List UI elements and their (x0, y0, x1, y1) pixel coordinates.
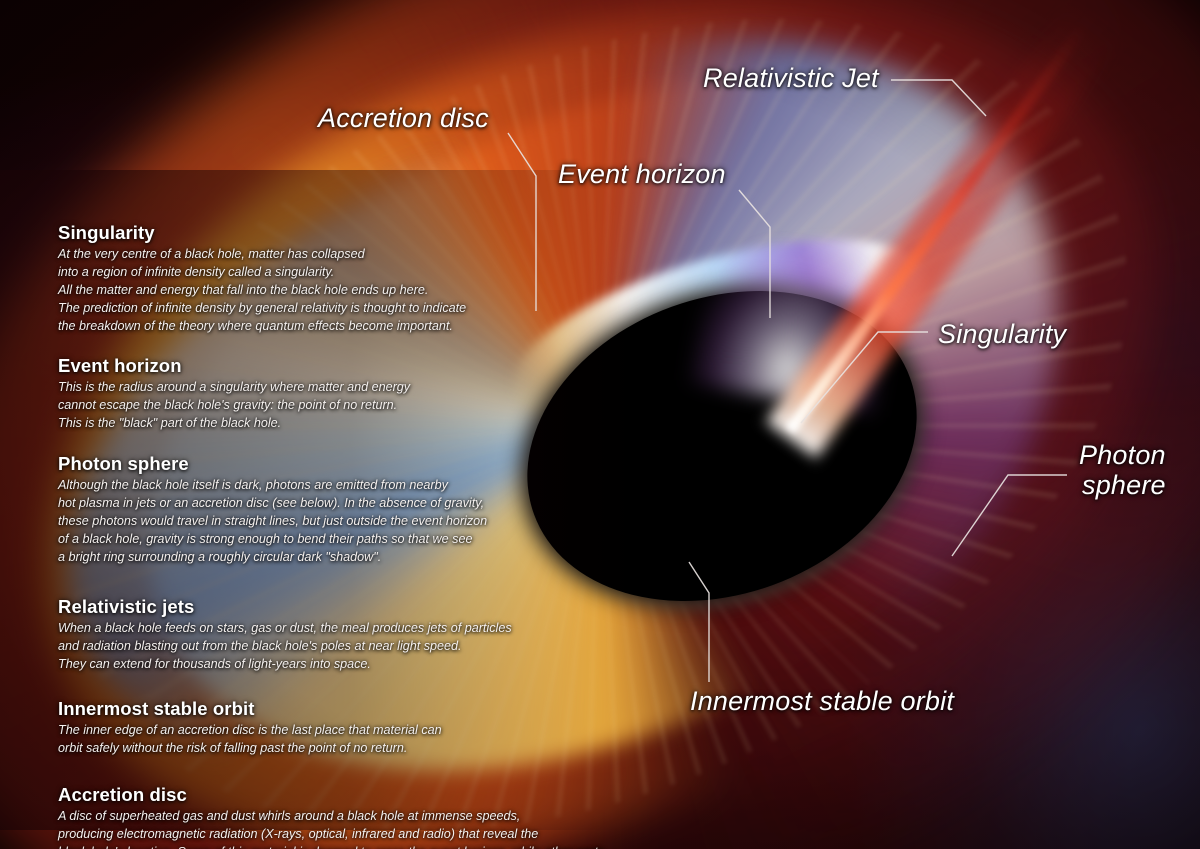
callout-relativistic-jet: Relativistic Jet (703, 63, 879, 93)
leader-line-singularity (801, 332, 928, 423)
description-column: Singularity At the very centre of a blac… (58, 222, 658, 849)
section-body-photon-sphere: Although the black hole itself is dark, … (58, 477, 658, 566)
section-event-horizon: Event horizon This is the radius around … (58, 355, 658, 433)
section-heading-innermost-stable-orbit: Innermost stable orbit (58, 698, 658, 720)
callout-accretion-disc: Accretion disc (318, 103, 489, 133)
section-body-event-horizon: This is the radius around a singularity … (58, 379, 658, 433)
section-innermost-stable-orbit: Innermost stable orbit The inner edge of… (58, 698, 658, 758)
section-heading-singularity: Singularity (58, 222, 658, 244)
callout-photon-sphere: Photon sphere (1079, 440, 1166, 500)
section-body-accretion-disc: A disc of superheated gas and dust whirl… (58, 808, 658, 849)
section-heading-event-horizon: Event horizon (58, 355, 658, 377)
leader-line-relativistic-jet (891, 80, 986, 116)
section-photon-sphere: Photon sphere Although the black hole it… (58, 453, 658, 566)
section-body-singularity: At the very centre of a black hole, matt… (58, 246, 658, 335)
leader-line-event-horizon (739, 190, 770, 318)
section-heading-relativistic-jets: Relativistic jets (58, 596, 658, 618)
section-body-innermost-stable-orbit: The inner edge of an accretion disc is t… (58, 722, 658, 758)
leader-line-photon-sphere (952, 475, 1067, 556)
callout-singularity: Singularity (938, 319, 1066, 349)
section-singularity: Singularity At the very centre of a blac… (58, 222, 658, 335)
infographic-canvas: Accretion disc Event horizon Relativisti… (0, 0, 1200, 849)
section-accretion-disc: Accretion disc A disc of superheated gas… (58, 784, 658, 849)
section-heading-photon-sphere: Photon sphere (58, 453, 658, 475)
callout-event-horizon: Event horizon (558, 159, 726, 189)
section-relativistic-jets: Relativistic jets When a black hole feed… (58, 596, 658, 674)
section-body-relativistic-jets: When a black hole feeds on stars, gas or… (58, 620, 658, 674)
section-heading-accretion-disc: Accretion disc (58, 784, 658, 806)
leader-line-innermost-stable-orbit (689, 562, 709, 682)
callout-innermost-stable-orbit: Innermost stable orbit (690, 686, 954, 716)
